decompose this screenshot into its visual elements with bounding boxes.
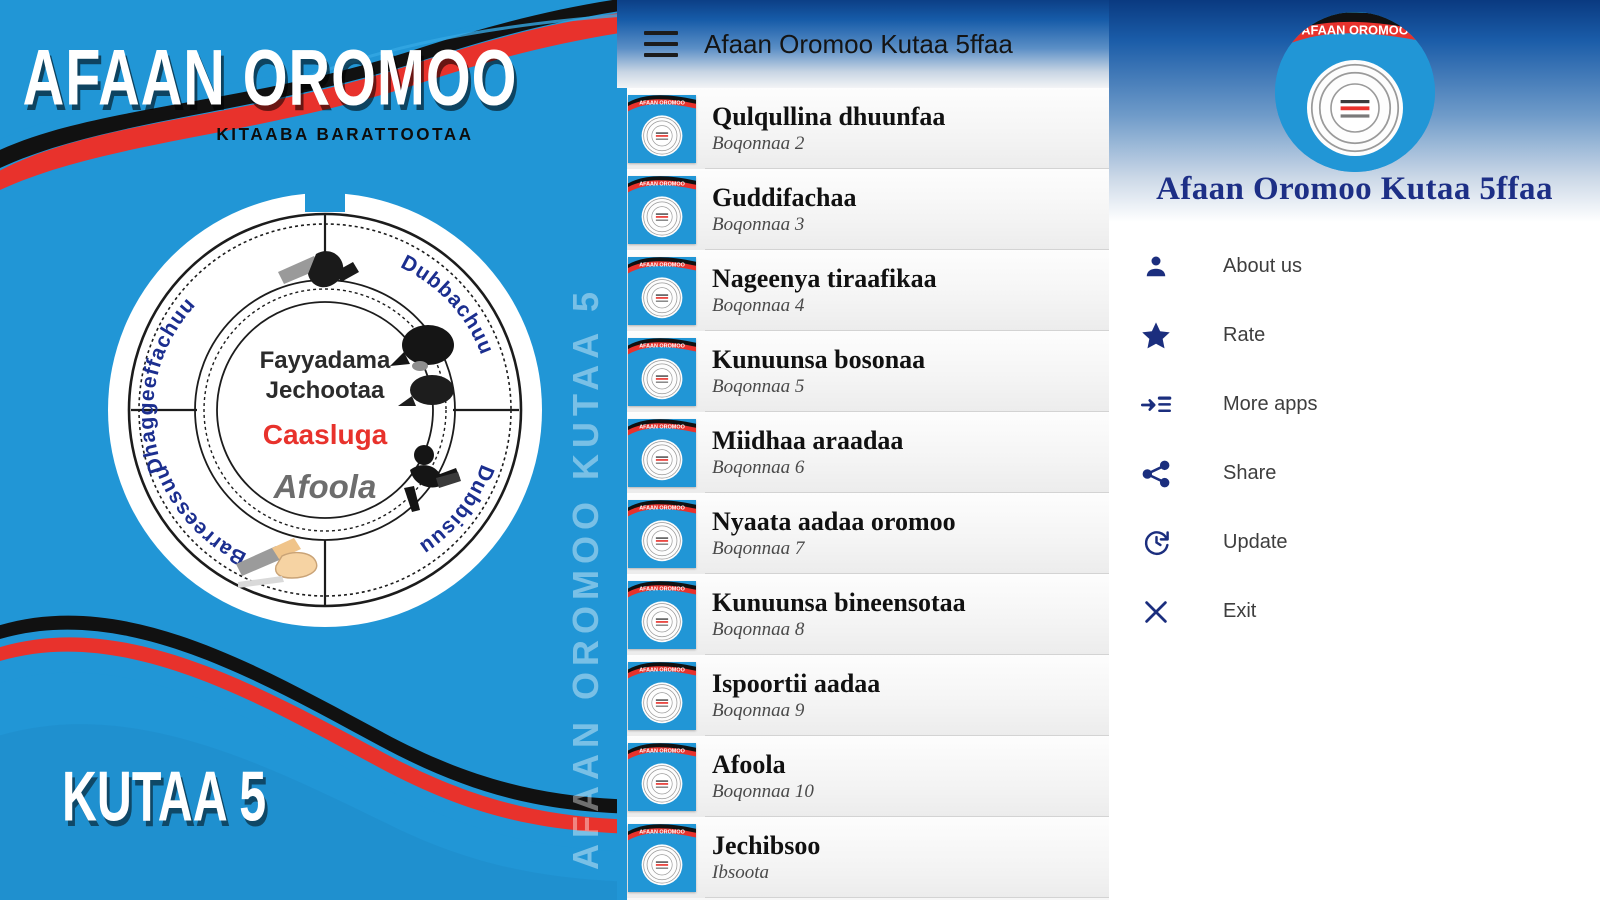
table-row[interactable]: Qulqullina dhuunfaa Boqonnaa 2 — [617, 88, 1109, 169]
chapter-subtitle: Boqonnaa 2 — [712, 133, 945, 156]
chapter-subtitle: Boqonnaa 10 — [712, 781, 814, 804]
cover-spine-text: AFAAN OROMOO KUTAA 5 — [565, 286, 607, 870]
menu-item-label: Exit — [1223, 600, 1256, 623]
chapter-list[interactable]: Qulqullina dhuunfaa Boqonnaa 2 Guddifach… — [617, 88, 1109, 900]
chapter-subtitle: Ibsoota — [712, 862, 820, 885]
wheel-core-line-2: Jechootaa — [266, 377, 385, 404]
chapter-title: Kunuunsa bineensotaa — [712, 588, 966, 617]
table-row[interactable]: Nyaata aadaa oromoo Boqonnaa 7 — [617, 493, 1109, 574]
menu-item-label: Share — [1223, 462, 1276, 485]
star-icon — [1133, 320, 1179, 352]
chapter-thumbnail-icon — [628, 95, 696, 163]
chapter-subtitle: Boqonnaa 5 — [712, 376, 925, 399]
menu-item-label: About us — [1223, 255, 1302, 278]
wheel-core-grey: Afoola — [273, 468, 377, 505]
table-row[interactable]: Jechibsoo Ibsoota — [617, 817, 1109, 898]
drawer-title: Afaan Oromoo Kutaa 5ffaa — [1109, 171, 1600, 208]
chapter-title: Ispoortii aadaa — [712, 669, 880, 698]
book-cover-panel: Dhaggeeffachuu Dubbachuu Dubbisuu Barree… — [0, 0, 617, 900]
menu-item-label: Rate — [1223, 324, 1265, 347]
chapter-subtitle: Boqonnaa 4 — [712, 295, 937, 318]
chapter-thumbnail-icon — [628, 257, 696, 325]
chapter-subtitle: Boqonnaa 9 — [712, 700, 880, 723]
chapter-subtitle: Boqonnaa 3 — [712, 214, 857, 237]
chapter-title: Guddifachaa — [712, 183, 857, 212]
menu-item-label: Update — [1223, 531, 1288, 554]
table-row[interactable]: Kunuunsa bosonaa Boqonnaa 5 — [617, 331, 1109, 412]
menu-item-about-us[interactable]: About us — [1109, 232, 1600, 301]
chapter-title: Miidhaa araadaa — [712, 426, 903, 455]
more-apps-icon — [1133, 390, 1179, 420]
navigation-drawer: Afaan Oromoo Kutaa 5ffaa About us — [1109, 0, 1600, 900]
chapter-title: Jechibsoo — [712, 831, 820, 860]
menu-item-label: More apps — [1223, 393, 1318, 416]
chapter-thumbnail-icon — [628, 662, 696, 730]
drawer-menu: About us Rate — [1109, 222, 1600, 646]
chapter-thumbnail-icon — [628, 176, 696, 244]
update-clock-icon — [1133, 527, 1179, 558]
chapter-subtitle: Boqonnaa 8 — [712, 619, 966, 642]
chapter-title: Afoola — [712, 750, 814, 779]
table-row[interactable]: Guddifachaa Boqonnaa 3 — [617, 169, 1109, 250]
wheel-core-line-1: Fayyadama — [260, 347, 391, 374]
cover-grade-badge: KUTAA 5 — [62, 757, 266, 838]
app-screen: Dhaggeeffachuu Dubbachuu Dubbisuu Barree… — [0, 0, 1600, 900]
table-row[interactable]: Kunuunsa bineensotaa Boqonnaa 8 — [617, 574, 1109, 655]
chapter-thumbnail-icon — [628, 338, 696, 406]
panel-left-edge-strip — [617, 0, 627, 900]
chapter-title: Kunuunsa bosonaa — [712, 345, 925, 374]
menu-item-share[interactable]: Share — [1109, 439, 1600, 508]
wheel-core-red: Caasluga — [263, 419, 388, 450]
drawer-header: Afaan Oromoo Kutaa 5ffaa — [1109, 0, 1600, 222]
chapter-thumbnail-icon — [628, 743, 696, 811]
menu-item-update[interactable]: Update — [1109, 508, 1600, 577]
chapter-thumbnail-icon — [628, 500, 696, 568]
table-row[interactable]: Ispoortii aadaa Boqonnaa 9 — [617, 655, 1109, 736]
chapter-title: Nageenya tiraafikaa — [712, 264, 937, 293]
chapter-title: Nyaata aadaa oromoo — [712, 507, 956, 536]
chapter-subtitle: Boqonnaa 6 — [712, 457, 903, 480]
menu-item-exit[interactable]: Exit — [1109, 577, 1600, 646]
hamburger-icon[interactable] — [644, 31, 678, 57]
chapter-list-panel: Afaan Oromoo Kutaa 5ffaa Qulqullina dhuu… — [617, 0, 1109, 900]
app-bar-title: Afaan Oromoo Kutaa 5ffaa — [704, 29, 1013, 60]
table-row[interactable]: Afoola Boqonnaa 10 — [617, 736, 1109, 817]
person-icon — [1133, 252, 1179, 282]
table-row[interactable]: Nageenya tiraafikaa Boqonnaa 4 — [617, 250, 1109, 331]
app-bar: Afaan Oromoo Kutaa 5ffaa — [617, 0, 1109, 88]
chapter-thumbnail-icon — [628, 824, 696, 892]
table-row[interactable]: Miidhaa araadaa Boqonnaa 6 — [617, 412, 1109, 493]
close-x-icon — [1133, 597, 1179, 627]
chapter-thumbnail-icon — [628, 581, 696, 649]
app-logo-icon — [1275, 12, 1435, 172]
chapter-subtitle: Boqonnaa 7 — [712, 538, 956, 561]
menu-item-rate[interactable]: Rate — [1109, 301, 1600, 370]
chapter-thumbnail-icon — [628, 419, 696, 487]
chapter-title: Qulqullina dhuunfaa — [712, 102, 945, 131]
share-icon — [1133, 458, 1179, 490]
menu-item-more-apps[interactable]: More apps — [1109, 370, 1600, 439]
